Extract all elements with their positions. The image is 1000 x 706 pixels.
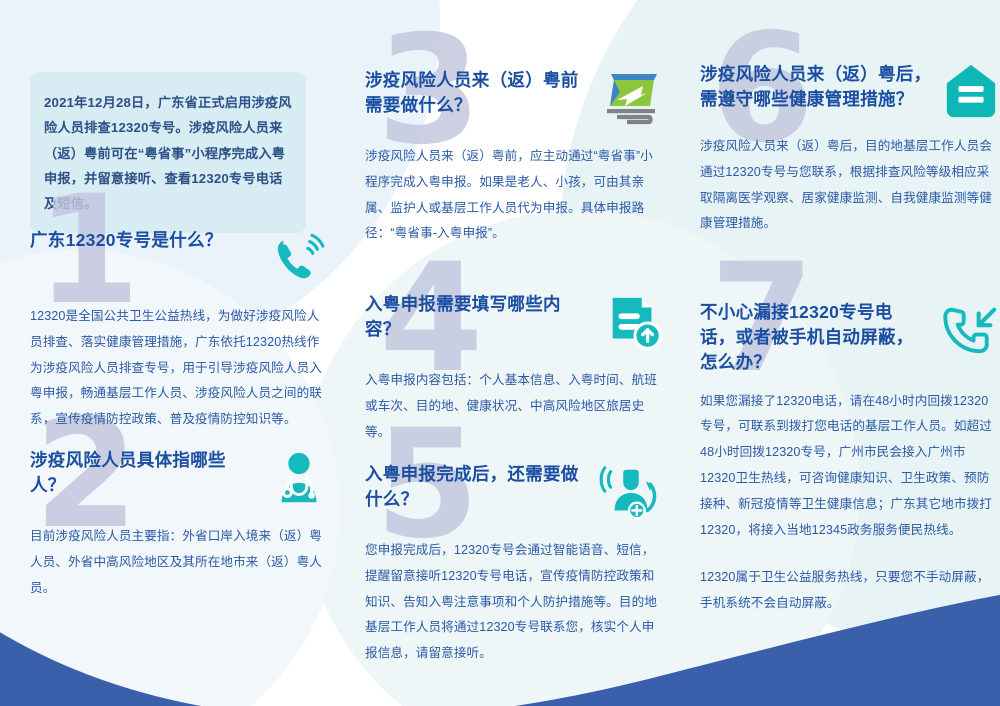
question-3-paragraph-1: 涉疫风险人员来（返）粤前，应主动通过“粤省事”小程序完成入粤申报。如果是老人、小…	[365, 144, 665, 247]
question-block-3: 3 涉疫风险人员来（返）粤前需要做什么？ 涉疫风险人员来（返）粤前，应主动通过“…	[365, 68, 665, 247]
question-block-5: 5 入粤申报完成后，还需要做什么？ 您	[365, 462, 665, 667]
question-7-title: 不小心漏接12320专号电话，或者被手机自动屏蔽，怎么办？	[700, 300, 915, 375]
question-4-body: 入粤申报内容包括：个人基本信息、入粤时间、航班或车次、目的地、健康状况、中高风险…	[365, 368, 665, 445]
question-6-header: 涉疫风险人员来（返）粤后，需遵守哪些健康管理措施？	[700, 62, 1000, 120]
column-right: 6 涉疫风险人员来（返）粤后，需遵守哪些健康管理措施？ 涉疫风险人员来（返）粤后…	[700, 0, 1000, 706]
question-5-title: 入粤申报完成后，还需要做什么？	[365, 462, 580, 512]
person-notification-icon	[597, 462, 665, 524]
question-3-title: 涉疫风险人员来（返）粤前需要做什么？	[365, 68, 580, 118]
question-4-paragraph-1: 入粤申报内容包括：个人基本信息、入粤时间、航班或车次、目的地、健康状况、中高风险…	[365, 368, 665, 445]
question-block-6: 6 涉疫风险人员来（返）粤后，需遵守哪些健康管理措施？ 涉疫风险人员来（返）粤后…	[700, 62, 1000, 237]
question-3-body: 涉疫风险人员来（返）粤前，应主动通过“粤省事”小程序完成入粤申报。如果是老人、小…	[365, 144, 665, 247]
question-1-header: 广东12320专号是什么？	[30, 228, 330, 290]
question-block-7: 7 不小心漏接12320专号电话，或者被手机自动屏蔽，怎么办？ 如果您漏接了12…	[700, 300, 1000, 617]
column-left: 2021年12月28日，广东省正式启用涉疫风险人员排查12320专号。涉疫风险人…	[30, 0, 330, 706]
question-2-header: 涉疫风险人员具体指哪些人？	[30, 448, 330, 510]
question-1-paragraph-1: 12320是全国公共卫生公益热线，为做好涉疫风险人员排查、落实健康管理措施，广东…	[30, 304, 330, 433]
question-6-body: 涉疫风险人员来（返）粤后，目的地基层工作人员会通过12320专号与您联系，根据排…	[700, 134, 1000, 237]
question-5-paragraph-1: 您申报完成后，12320专号会通过智能语音、短信，提醒留意接听12320专号电话…	[365, 538, 665, 667]
question-1-title: 广东12320专号是什么？	[30, 228, 223, 253]
question-7-paragraph-1: 如果您漏接了12320电话，请在48小时内回拨12320专号，可联系到拨打您电话…	[700, 389, 1000, 544]
question-3-header: 涉疫风险人员来（返）粤前需要做什么？	[365, 68, 665, 130]
question-1-body: 12320是全国公共卫生公益热线，为做好涉疫风险人员排查、落实健康管理措施，广东…	[30, 304, 330, 433]
question-4-title: 入粤申报需要填写哪些内容？	[365, 292, 580, 342]
question-4-header: 入粤申报需要填写哪些内容？	[365, 292, 665, 354]
home-health-icon	[942, 62, 1000, 120]
infographic-poster: 2021年12月28日，广东省正式启用涉疫风险人员排查12320专号。涉疫风险人…	[0, 0, 1000, 706]
question-5-body: 您申报完成后，12320专号会通过智能语音、短信，提醒留意接听12320专号电话…	[365, 538, 665, 667]
question-6-paragraph-1: 涉疫风险人员来（返）粤后，目的地基层工作人员会通过12320专号与您联系，根据排…	[700, 134, 1000, 237]
question-block-2: 2 涉疫风险人员具体指哪些人？ 目前涉疫风险人员主要指：外省口岸	[30, 448, 330, 601]
question-7-body: 如果您漏接了12320电话，请在48小时内回拨12320专号，可联系到拨打您电话…	[700, 389, 1000, 618]
question-2-body: 目前涉疫风险人员主要指：外省口岸入境来（返）粤人员、外省中高风险地区及其所在地市…	[30, 524, 330, 601]
question-6-title: 涉疫风险人员来（返）粤后，需遵守哪些健康管理措施？	[700, 62, 932, 112]
missed-call-icon	[938, 300, 1000, 362]
phone-ringing-icon	[268, 228, 330, 290]
question-block-4: 4 入粤申报需要填写哪些内容？ 入粤申报内容包括：个人基本信息、	[365, 292, 665, 445]
question-7-paragraph-2: 12320属于卫生公益服务热线，只要您不手动屏蔽，手机系统不会自动屏蔽。	[700, 565, 1000, 617]
question-7-header: 不小心漏接12320专号电话，或者被手机自动屏蔽，怎么办？	[700, 300, 1000, 375]
yue-sheng-shi-logo-icon	[601, 68, 665, 130]
question-2-paragraph-1: 目前涉疫风险人员主要指：外省口岸入境来（返）粤人员、外省中高风险地区及其所在地市…	[30, 524, 330, 601]
question-block-1: 1 广东12320专号是什么？ 12320是全国公共卫生公益热线，为做好涉疫风险…	[30, 228, 330, 433]
document-upload-icon	[603, 292, 665, 354]
column-middle: 3 涉疫风险人员来（返）粤前需要做什么？ 涉疫风险人员来（返）粤前，应主动通过“…	[365, 0, 665, 706]
question-2-title: 涉疫风险人员具体指哪些人？	[30, 448, 245, 498]
question-5-header: 入粤申报完成后，还需要做什么？	[365, 462, 665, 524]
doctor-icon	[268, 448, 330, 510]
